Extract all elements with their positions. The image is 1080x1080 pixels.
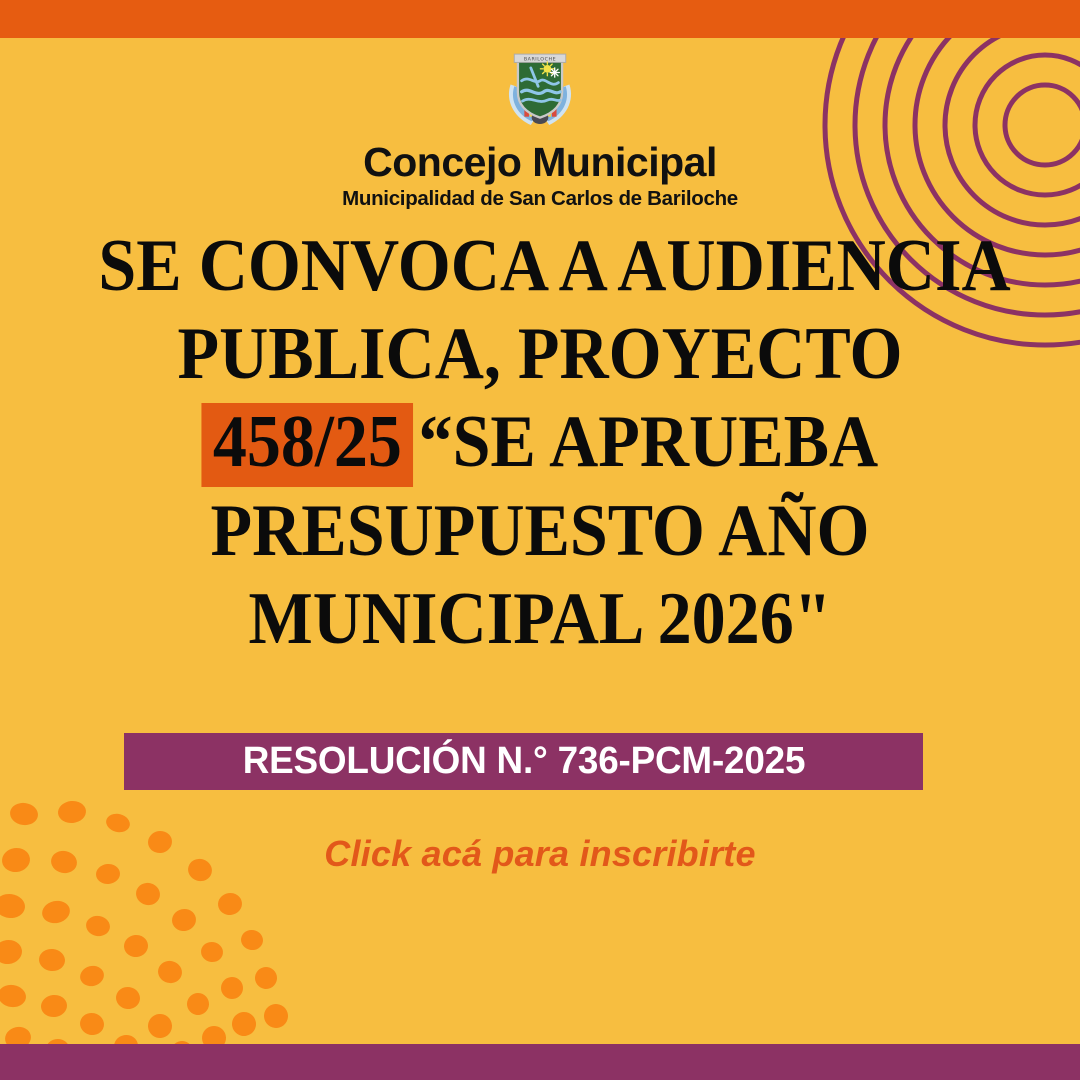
svg-text:BARILOCHE: BARILOCHE (524, 57, 556, 63)
headline-line-3: 458/25“SE APRUEBA (98, 398, 981, 487)
dot-fan-decoration (0, 780, 320, 1060)
headline-line-5: MUNICIPAL 2026" (98, 575, 981, 663)
bottom-accent-band (0, 1044, 1080, 1080)
headline-line-1: SE CONVOCA A AUDIENCIA (98, 222, 981, 310)
header-block: BARILOCHE (0, 44, 1080, 210)
top-accent-band (0, 0, 1080, 38)
headline-line-3-rest: “SE APRUEBA (419, 401, 879, 483)
bariloche-coat-of-arms-icon: BARILOCHE (494, 44, 586, 136)
cta-block: Click acá para inscribirte (0, 833, 1080, 875)
headline-line-4: PRESUPUESTO AÑO (98, 487, 981, 575)
headline-block: SE CONVOCA A AUDIENCIA PUBLICA, PROYECTO… (60, 222, 1020, 663)
org-subtitle: Municipalidad de San Carlos de Bariloche (0, 189, 1080, 210)
project-number-highlight: 458/25 (202, 403, 413, 487)
poster-canvas: BARILOCHE (0, 0, 1080, 1080)
org-title: Concejo Municipal (0, 142, 1080, 183)
headline-line-2: PUBLICA, PROYECTO (98, 310, 981, 398)
signup-link[interactable]: Click acá para inscribirte (324, 833, 755, 875)
resolution-banner-text: RESOLUCIÓN N.° 736-PCM-2025 (242, 740, 805, 783)
resolution-banner: RESOLUCIÓN N.° 736-PCM-2025 (124, 733, 923, 790)
